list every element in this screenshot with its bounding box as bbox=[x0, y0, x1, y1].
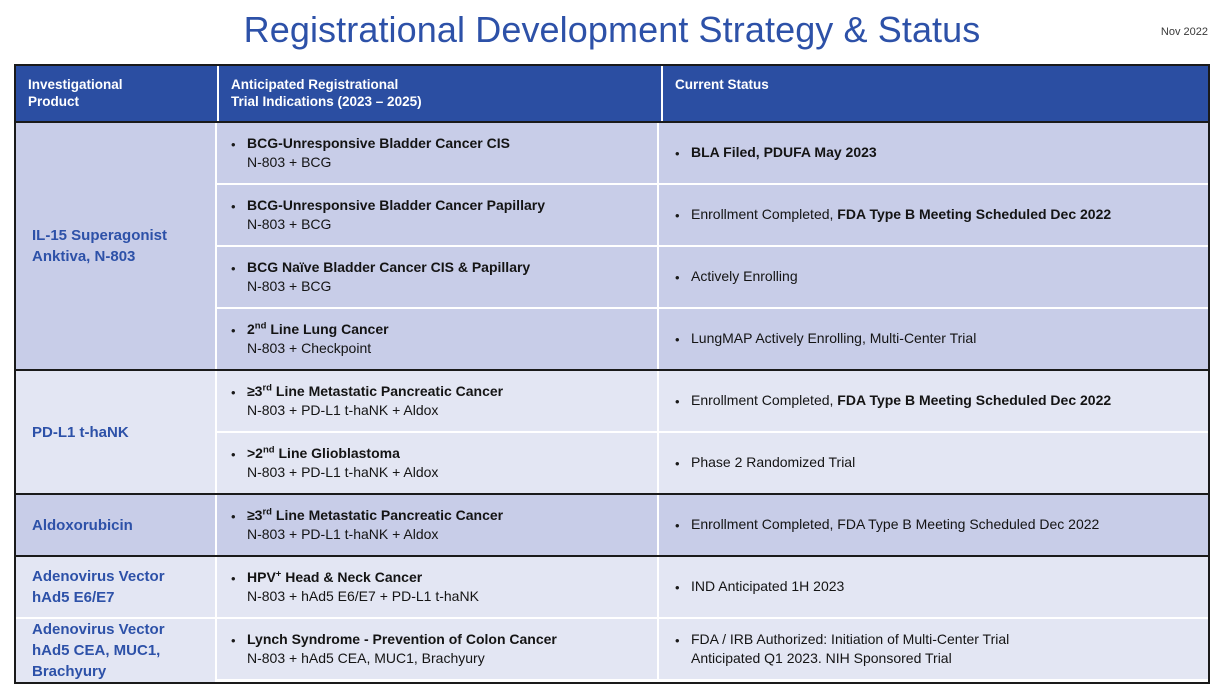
bulleted-text: •2nd Line Lung CancerN-803 + Checkpoint bbox=[231, 320, 649, 358]
status-text: BLA Filed, PDUFA May 2023 bbox=[691, 143, 877, 162]
indication-superscript: nd bbox=[255, 320, 267, 331]
indication-text: HPV+ Head & Neck CancerN-803 + hAd5 E6/E… bbox=[247, 568, 649, 606]
regimen-text: N-803 + BCG bbox=[247, 215, 649, 234]
bulleted-text: •FDA / IRB Authorized: Initiation of Mul… bbox=[675, 630, 1198, 668]
indication-title: BCG-Unresponsive Bladder Cancer CIS bbox=[247, 134, 649, 153]
bullet-icon: • bbox=[675, 143, 691, 163]
bullet-icon: • bbox=[675, 267, 691, 287]
page-title: Registrational Development Strategy & St… bbox=[0, 8, 1224, 52]
bulleted-text: •Phase 2 Randomized Trial bbox=[675, 453, 1198, 473]
status-text: FDA / IRB Authorized: Initiation of Mult… bbox=[691, 630, 1009, 668]
group-rows: •Lynch Syndrome - Prevention of Colon Ca… bbox=[217, 619, 1208, 682]
table-row: •BCG Naïve Bladder Cancer CIS & Papillar… bbox=[217, 247, 1208, 309]
status-highlight: FDA Type B Meeting Scheduled Dec 2022 bbox=[837, 206, 1111, 222]
bullet-icon: • bbox=[675, 453, 691, 473]
table-row: •≥3rd Line Metastatic Pancreatic CancerN… bbox=[217, 371, 1208, 433]
indication-cell: •2nd Line Lung CancerN-803 + Checkpoint bbox=[217, 309, 659, 369]
group-rows: •HPV+ Head & Neck CancerN-803 + hAd5 E6/… bbox=[217, 557, 1208, 617]
status-text: Phase 2 Randomized Trial bbox=[691, 453, 855, 472]
status-cell: •BLA Filed, PDUFA May 2023 bbox=[659, 123, 1208, 183]
indication-superscript: nd bbox=[263, 444, 275, 455]
table-row: •BCG-Unresponsive Bladder Cancer CISN-80… bbox=[217, 123, 1208, 185]
status-cell: •Enrollment Completed, FDA Type B Meetin… bbox=[659, 371, 1208, 431]
status-cell: •Phase 2 Randomized Trial bbox=[659, 433, 1208, 493]
bulleted-text: •Lynch Syndrome - Prevention of Colon Ca… bbox=[231, 630, 649, 668]
table-row: •BCG-Unresponsive Bladder Cancer Papilla… bbox=[217, 185, 1208, 247]
bulleted-text: •Actively Enrolling bbox=[675, 267, 1198, 287]
group-rows: •BCG-Unresponsive Bladder Cancer CISN-80… bbox=[217, 123, 1208, 369]
bullet-icon: • bbox=[231, 568, 247, 588]
investigational-product-label: Adenovirus Vector hAd5 E6/E7 bbox=[16, 557, 217, 617]
bullet-icon: • bbox=[675, 630, 691, 650]
indication-cell: •BCG-Unresponsive Bladder Cancer Papilla… bbox=[217, 185, 659, 245]
title-area: Registrational Development Strategy & St… bbox=[0, 0, 1224, 62]
indication-superscript: rd bbox=[262, 506, 272, 517]
investigational-product-label: IL-15 Superagonist Anktiva, N-803 bbox=[16, 123, 217, 369]
bullet-icon: • bbox=[231, 320, 247, 340]
indication-text: ≥3rd Line Metastatic Pancreatic CancerN-… bbox=[247, 382, 649, 420]
column-header-investigational-product: Investigational Product bbox=[16, 66, 217, 121]
status-cell: •IND Anticipated 1H 2023 bbox=[659, 557, 1208, 617]
indication-cell: •>2nd Line GlioblastomaN-803 + PD-L1 t-h… bbox=[217, 433, 659, 493]
bulleted-text: •BLA Filed, PDUFA May 2023 bbox=[675, 143, 1198, 163]
product-group: Adenovirus Vector hAd5 CEA, MUC1, Brachy… bbox=[16, 619, 1208, 682]
indication-text: BCG Naïve Bladder Cancer CIS & Papillary… bbox=[247, 258, 649, 296]
investigational-product-label: Adenovirus Vector hAd5 CEA, MUC1, Brachy… bbox=[16, 619, 217, 682]
regimen-text: N-803 + PD-L1 t-haNK + Aldox bbox=[247, 525, 649, 544]
slide-date: Nov 2022 bbox=[1161, 26, 1208, 38]
product-group: Aldoxorubicin•≥3rd Line Metastatic Pancr… bbox=[16, 495, 1208, 557]
table-header-row: Investigational Product Anticipated Regi… bbox=[16, 66, 1208, 123]
indication-cell: •Lynch Syndrome - Prevention of Colon Ca… bbox=[217, 619, 659, 679]
indication-title: ≥3rd Line Metastatic Pancreatic Cancer bbox=[247, 506, 649, 525]
indication-text: 2nd Line Lung CancerN-803 + Checkpoint bbox=[247, 320, 649, 358]
bullet-icon: • bbox=[675, 577, 691, 597]
indication-text: Lynch Syndrome - Prevention of Colon Can… bbox=[247, 630, 649, 668]
table-row: •>2nd Line GlioblastomaN-803 + PD-L1 t-h… bbox=[217, 433, 1208, 493]
bulleted-text: •≥3rd Line Metastatic Pancreatic CancerN… bbox=[231, 506, 649, 544]
bullet-icon: • bbox=[231, 506, 247, 526]
bullet-icon: • bbox=[231, 258, 247, 278]
status-cell: •LungMAP Actively Enrolling, Multi-Cente… bbox=[659, 309, 1208, 369]
group-rows: •≥3rd Line Metastatic Pancreatic CancerN… bbox=[217, 495, 1208, 555]
bullet-icon: • bbox=[675, 515, 691, 535]
status-text: Actively Enrolling bbox=[691, 267, 798, 286]
status-cell: •FDA / IRB Authorized: Initiation of Mul… bbox=[659, 619, 1208, 679]
bullet-icon: • bbox=[675, 391, 691, 411]
indication-title: HPV+ Head & Neck Cancer bbox=[247, 568, 649, 587]
slide: Registrational Development Strategy & St… bbox=[0, 0, 1224, 670]
indication-text: ≥3rd Line Metastatic Pancreatic CancerN-… bbox=[247, 506, 649, 544]
status-text: IND Anticipated 1H 2023 bbox=[691, 577, 844, 596]
indication-title: BCG-Unresponsive Bladder Cancer Papillar… bbox=[247, 196, 649, 215]
column-header-anticipated-indications: Anticipated Registrational Trial Indicat… bbox=[217, 66, 661, 121]
product-group: PD-L1 t-haNK•≥3rd Line Metastatic Pancre… bbox=[16, 371, 1208, 495]
group-rows: •≥3rd Line Metastatic Pancreatic CancerN… bbox=[217, 371, 1208, 493]
strategy-table: Investigational Product Anticipated Regi… bbox=[14, 64, 1210, 684]
bulleted-text: •HPV+ Head & Neck CancerN-803 + hAd5 E6/… bbox=[231, 568, 649, 606]
indication-text: BCG-Unresponsive Bladder Cancer Papillar… bbox=[247, 196, 649, 234]
indication-cell: •BCG Naïve Bladder Cancer CIS & Papillar… bbox=[217, 247, 659, 307]
regimen-text: N-803 + PD-L1 t-haNK + Aldox bbox=[247, 401, 649, 420]
indication-title: BCG Naïve Bladder Cancer CIS & Papillary bbox=[247, 258, 649, 277]
product-group: Adenovirus Vector hAd5 E6/E7•HPV+ Head &… bbox=[16, 557, 1208, 619]
status-text: Enrollment Completed, FDA Type B Meeting… bbox=[691, 205, 1111, 224]
indication-cell: •≥3rd Line Metastatic Pancreatic CancerN… bbox=[217, 495, 659, 555]
table-row: •Lynch Syndrome - Prevention of Colon Ca… bbox=[217, 619, 1208, 679]
investigational-product-label: PD-L1 t-haNK bbox=[16, 371, 217, 493]
indication-cell: •HPV+ Head & Neck CancerN-803 + hAd5 E6/… bbox=[217, 557, 659, 617]
status-text: Enrollment Completed, FDA Type B Meeting… bbox=[691, 515, 1099, 534]
bullet-icon: • bbox=[231, 630, 247, 650]
product-group: IL-15 Superagonist Anktiva, N-803•BCG-Un… bbox=[16, 123, 1208, 371]
bulleted-text: •BCG-Unresponsive Bladder Cancer CISN-80… bbox=[231, 134, 649, 172]
bulleted-text: •Enrollment Completed, FDA Type B Meetin… bbox=[675, 205, 1198, 225]
table-body: IL-15 Superagonist Anktiva, N-803•BCG-Un… bbox=[16, 123, 1208, 682]
regimen-text: N-803 + BCG bbox=[247, 277, 649, 296]
bullet-icon: • bbox=[231, 444, 247, 464]
bulleted-text: •Enrollment Completed, FDA Type B Meetin… bbox=[675, 391, 1198, 411]
indication-superscript: rd bbox=[262, 382, 272, 393]
status-text: Enrollment Completed, FDA Type B Meeting… bbox=[691, 391, 1111, 410]
indication-text: >2nd Line GlioblastomaN-803 + PD-L1 t-ha… bbox=[247, 444, 649, 482]
indication-title: 2nd Line Lung Cancer bbox=[247, 320, 649, 339]
status-cell: •Enrollment Completed, FDA Type B Meetin… bbox=[659, 185, 1208, 245]
table-row: •2nd Line Lung CancerN-803 + Checkpoint•… bbox=[217, 309, 1208, 369]
indication-cell: •≥3rd Line Metastatic Pancreatic CancerN… bbox=[217, 371, 659, 431]
indication-superscript: + bbox=[276, 568, 282, 579]
table-row: •HPV+ Head & Neck CancerN-803 + hAd5 E6/… bbox=[217, 557, 1208, 617]
indication-title: ≥3rd Line Metastatic Pancreatic Cancer bbox=[247, 382, 649, 401]
table-row: •≥3rd Line Metastatic Pancreatic CancerN… bbox=[217, 495, 1208, 555]
bulleted-text: •>2nd Line GlioblastomaN-803 + PD-L1 t-h… bbox=[231, 444, 649, 482]
indication-text: BCG-Unresponsive Bladder Cancer CISN-803… bbox=[247, 134, 649, 172]
bullet-icon: • bbox=[675, 329, 691, 349]
regimen-text: N-803 + BCG bbox=[247, 153, 649, 172]
status-text: LungMAP Actively Enrolling, Multi-Center… bbox=[691, 329, 976, 348]
investigational-product-label: Aldoxorubicin bbox=[16, 495, 217, 555]
status-highlight: FDA Type B Meeting Scheduled Dec 2022 bbox=[837, 392, 1111, 408]
bulleted-text: •LungMAP Actively Enrolling, Multi-Cente… bbox=[675, 329, 1198, 349]
bullet-icon: • bbox=[675, 205, 691, 225]
status-cell: •Actively Enrolling bbox=[659, 247, 1208, 307]
indication-title: >2nd Line Glioblastoma bbox=[247, 444, 649, 463]
regimen-text: N-803 + hAd5 E6/E7 + PD-L1 t-haNK bbox=[247, 587, 649, 606]
bulleted-text: •BCG Naïve Bladder Cancer CIS & Papillar… bbox=[231, 258, 649, 296]
bullet-icon: • bbox=[231, 382, 247, 402]
column-header-current-status: Current Status bbox=[661, 66, 1208, 121]
bullet-icon: • bbox=[231, 134, 247, 154]
bullet-icon: • bbox=[231, 196, 247, 216]
bulleted-text: •IND Anticipated 1H 2023 bbox=[675, 577, 1198, 597]
bulleted-text: •≥3rd Line Metastatic Pancreatic CancerN… bbox=[231, 382, 649, 420]
bulleted-text: •Enrollment Completed, FDA Type B Meetin… bbox=[675, 515, 1198, 535]
indication-cell: •BCG-Unresponsive Bladder Cancer CISN-80… bbox=[217, 123, 659, 183]
regimen-text: N-803 + PD-L1 t-haNK + Aldox bbox=[247, 463, 649, 482]
bulleted-text: •BCG-Unresponsive Bladder Cancer Papilla… bbox=[231, 196, 649, 234]
regimen-text: N-803 + hAd5 CEA, MUC1, Brachyury bbox=[247, 649, 649, 668]
regimen-text: N-803 + Checkpoint bbox=[247, 339, 649, 358]
status-cell: •Enrollment Completed, FDA Type B Meetin… bbox=[659, 495, 1208, 555]
indication-title: Lynch Syndrome - Prevention of Colon Can… bbox=[247, 630, 649, 649]
